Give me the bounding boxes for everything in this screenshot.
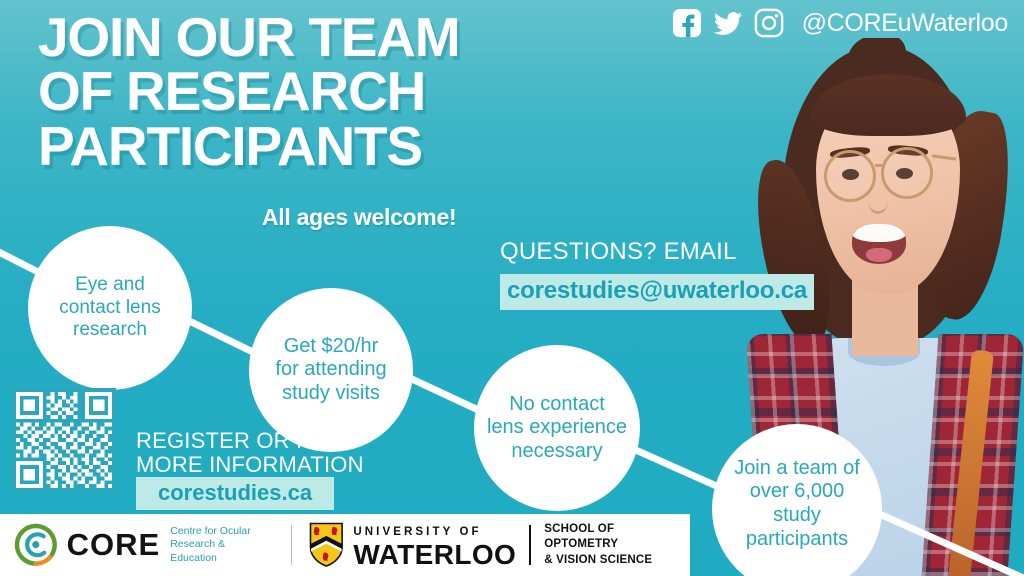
bubble-3-line-0: Join a team of (734, 457, 860, 479)
waterloo-top-text: UNIVERSITY OF (353, 526, 481, 538)
core-mark-icon (14, 523, 58, 567)
core-subtitle: Centre for Ocular Research & Education (170, 525, 274, 564)
register-website[interactable]: corestudies.ca (136, 477, 334, 510)
bubble-2-line-2: necessary (511, 440, 602, 462)
bubble-0-line-0: Eye and (75, 274, 145, 295)
bubble-3-line-2: study (773, 504, 821, 526)
waterloo-shield-icon (309, 522, 344, 568)
twitter-icon[interactable] (713, 8, 743, 38)
nose (868, 188, 888, 214)
school-line-2: & VISION SCIENCE (544, 554, 652, 566)
eyeglasses-lens-right (881, 147, 933, 199)
bubble-1-line-0: Get $20/hr (284, 335, 379, 357)
logo-bar: CORE Centre for Ocular Research & Educat… (0, 514, 690, 576)
bubble-eye-research: Eye and contact lens research (28, 226, 192, 390)
logo-divider (291, 525, 292, 565)
instagram-icon[interactable] (754, 8, 784, 38)
waterloo-wordmark: UNIVERSITY OF WATERLOO (353, 522, 516, 569)
teeth (852, 224, 906, 242)
headline-line-1: JOIN OUR TEAM (38, 10, 638, 64)
headline-line-2: OF RESEARCH (38, 64, 638, 118)
bubble-2-line-0: No contact (509, 393, 605, 415)
register-line-2: MORE INFORMATION (136, 452, 364, 478)
tagline: All ages welcome! (262, 204, 456, 231)
tongue (866, 248, 892, 262)
qr-code[interactable] (12, 388, 116, 492)
questions-label: QUESTIONS? EMAIL (500, 238, 737, 266)
waterloo-bottom-text: WATERLOO (353, 541, 516, 569)
core-subtitle-line-1: Centre for Ocular (170, 525, 251, 537)
headline: JOIN OUR TEAM OF RESEARCH PARTICIPANTS (38, 10, 638, 173)
eyeglasses-bridge (875, 164, 884, 167)
waterloo-divider (529, 525, 531, 565)
mouth (852, 224, 906, 264)
register-line-1: REGISTER OR FOR (136, 428, 343, 454)
core-subtitle-line-2: Research & Education (170, 538, 225, 563)
bubble-0-line-2: research (73, 319, 147, 340)
school-line-1: SCHOOL OF OPTOMETRY (544, 523, 618, 551)
waterloo-logo: UNIVERSITY OF WATERLOO SCHOOL OF OPTOMET… (309, 522, 690, 569)
bubble-1-line-2: study visits (282, 382, 380, 404)
eyeglasses-lens-left (824, 150, 876, 202)
core-logo: CORE Centre for Ocular Research & Educat… (0, 523, 274, 567)
bubble-3-line-3: participants (746, 528, 848, 550)
bubble-2-line-1: lens experience (487, 416, 627, 438)
core-wordmark: CORE (67, 527, 161, 563)
connector-line-segment-3 (629, 444, 721, 490)
facebook-icon[interactable] (672, 8, 702, 38)
bubble-0-line-1: contact lens (59, 297, 160, 318)
waterloo-school-text: SCHOOL OF OPTOMETRY & VISION SCIENCE (544, 522, 690, 569)
poster-canvas: JOIN OUR TEAM OF RESEARCH PARTICIPANTS A… (0, 0, 1024, 576)
bubble-no-experience: No contact lens experience necessary (474, 345, 640, 511)
headline-line-3: PARTICIPANTS (38, 119, 638, 173)
bubble-3-line-1: over 6,000 (750, 480, 845, 502)
contact-email[interactable]: corestudies@uwaterloo.ca (500, 274, 814, 310)
social-handle[interactable]: @COREuWaterloo (802, 9, 1008, 38)
bubble-1-line-1: for attending (275, 358, 386, 380)
social-bar: @COREuWaterloo (672, 8, 1008, 38)
